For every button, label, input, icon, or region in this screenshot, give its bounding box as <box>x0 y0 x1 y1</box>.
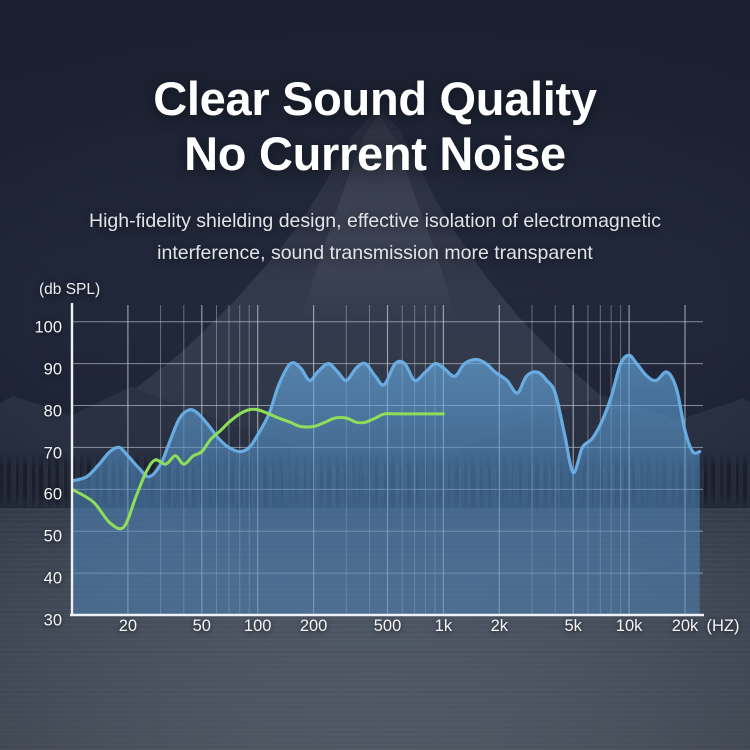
x-axis-tick-500: 500 <box>374 617 402 636</box>
x-axis-tick-2k: 2k <box>491 617 508 636</box>
page-title-line-1: Clear Sound Quality <box>153 72 597 125</box>
y-axis-tick-100: 100 <box>6 318 62 337</box>
y-axis-tick-70: 70 <box>6 444 62 463</box>
page-title-line-2: No Current Noise <box>184 127 566 180</box>
x-axis-tick-labels: 20501002005001k2k5k10k20k(HZ) <box>0 611 750 641</box>
chart-plot-area <box>0 301 750 621</box>
frequency-response-chart: (db SPL) 10090807060504030 2050100200500… <box>0 295 750 655</box>
x-axis-tick-10k: 10k <box>616 617 643 636</box>
x-axis-tick-50: 50 <box>193 617 211 636</box>
x-axis-tick-100: 100 <box>244 617 272 636</box>
page-subtitle-line-1: High-fidelity shielding design, effectiv… <box>89 210 661 232</box>
x-axis-tick-20: 20 <box>119 617 137 636</box>
y-axis-tick-50: 50 <box>6 528 62 547</box>
page-subtitle-line-2: interference, sound transmission more tr… <box>157 242 593 264</box>
y-axis-tick-labels: 10090807060504030 <box>0 301 62 621</box>
x-axis-tick-200: 200 <box>300 617 328 636</box>
y-axis-tick-40: 40 <box>6 570 62 589</box>
y-axis-tick-80: 80 <box>6 402 62 421</box>
x-axis-unit-label: (HZ) <box>707 617 740 636</box>
x-axis-tick-20k: 20k <box>672 617 699 636</box>
x-axis-tick-5k: 5k <box>564 617 581 636</box>
page-subtitle: High-fidelity shielding design, effectiv… <box>0 206 750 269</box>
y-axis-tick-60: 60 <box>6 486 62 505</box>
y-axis-unit-label: (db SPL) <box>39 281 100 299</box>
page-title: Clear Sound Quality No Current Noise <box>0 0 750 182</box>
x-axis-tick-1k: 1k <box>435 617 452 636</box>
y-axis-tick-90: 90 <box>6 360 62 379</box>
